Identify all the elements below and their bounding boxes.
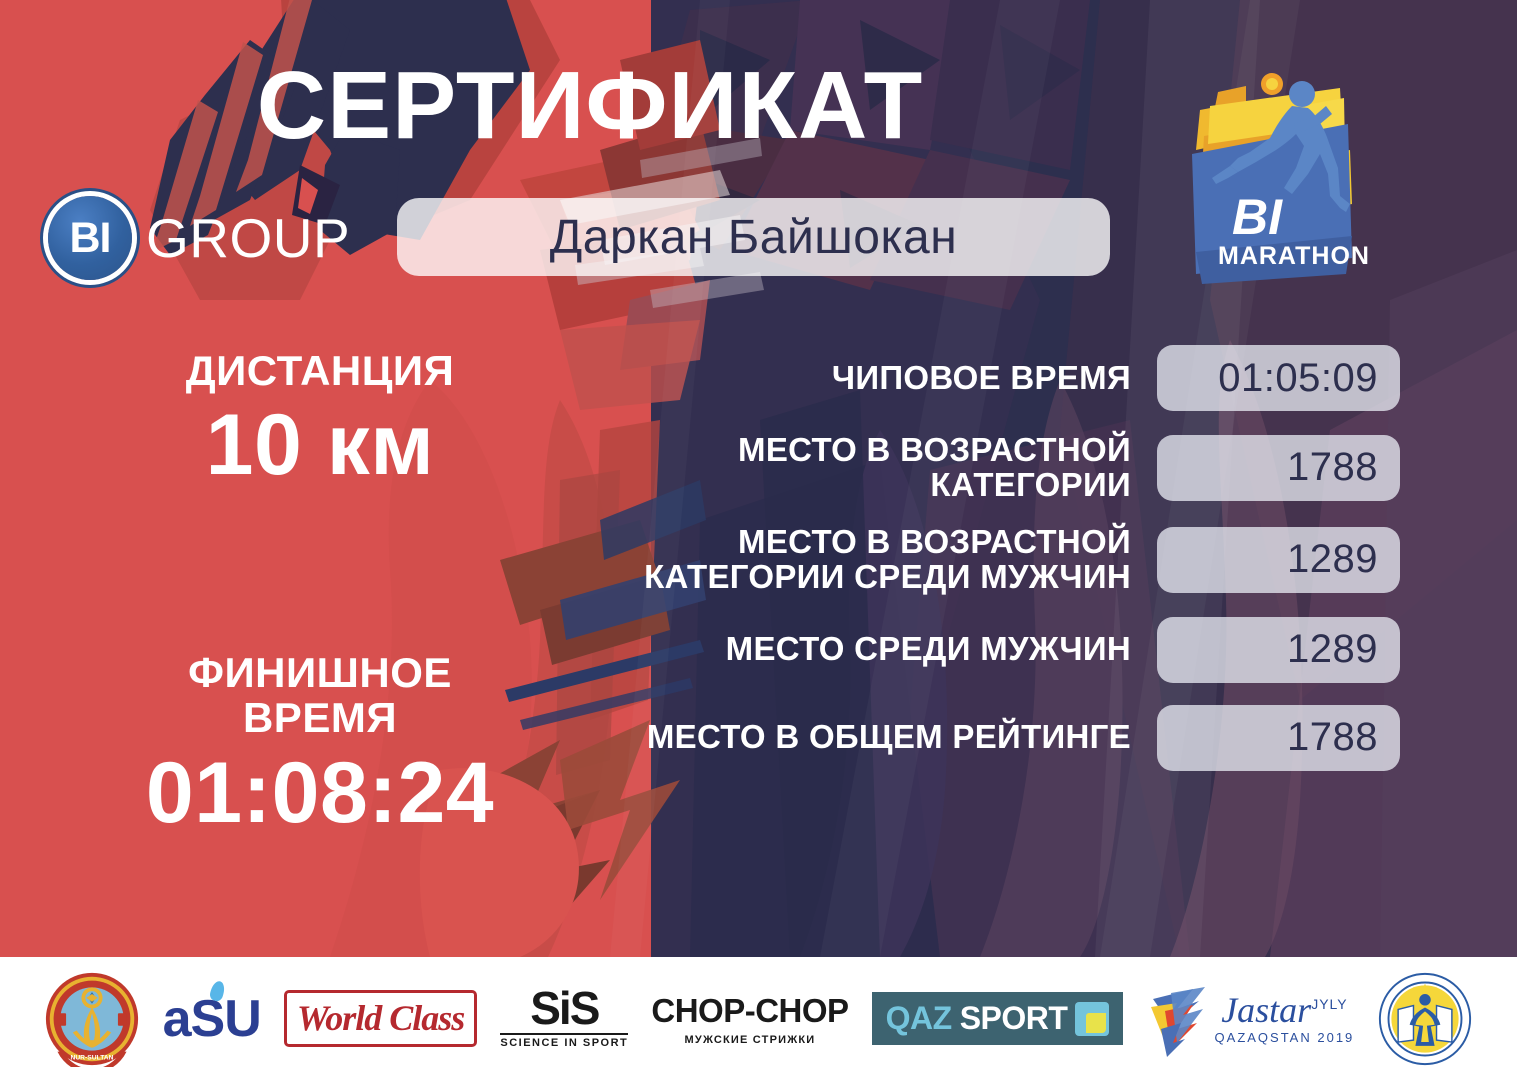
stat-value-pill: 1289 [1157,617,1400,683]
stat-value: 1788 [1287,715,1378,760]
bi-badge-icon: BI [48,196,132,280]
athlete-name-field: Даркан Байшокан [397,198,1110,276]
stat-value-pill: 01:05:09 [1157,345,1400,411]
sponsor-ministry [1377,969,1473,1069]
finish-label-line1: ФИНИШНОЕ [80,650,560,695]
sponsor-bar: NUR-SULTAN aSU World Class SiS SCIENCE I… [0,957,1517,1080]
svg-text:NUR-SULTAN: NUR-SULTAN [70,1054,113,1061]
certificate: СЕРТИФИКАТ BI GROUP Даркан Байшокан [0,0,1517,1080]
chop-chop-text: CHOP-CHOP [651,992,848,1030]
chop-chop-logo: CHOP-CHOP МУЖСКИЕ СТРИЖКИ [651,992,848,1046]
stat-value: 1788 [1287,445,1378,490]
nur-sultan-emblem-icon: NUR-SULTAN [44,971,140,1067]
sponsor-world-class: World Class [284,969,477,1069]
ministry-seal-icon [1377,971,1473,1067]
stat-row: ЧИПОВОЕ ВРЕМЯ 01:05:09 [600,345,1400,411]
jastar-word-text: Jastar [1221,990,1311,1030]
sis-subtext: SCIENCE IN SPORT [500,1033,628,1049]
stat-value: 1289 [1287,537,1378,582]
sponsor-nur-sultan: NUR-SULTAN [44,969,140,1069]
bi-group-word: GROUP [146,206,350,270]
distance-value: 10 км [80,397,560,493]
stat-value-pill: 1788 [1157,705,1400,771]
sis-logo: SiS SCIENCE IN SPORT [500,988,628,1048]
qazsport-text-2: SPORT [960,1000,1068,1037]
stats-list: ЧИПОВОЕ ВРЕМЯ 01:05:09 МЕСТО В ВОЗРАСТНО… [600,345,1400,793]
world-class-text: World Class [297,998,464,1038]
stat-label: МЕСТО В ВОЗРАСТНОЙ КАТЕГОРИИ СРЕДИ МУЖЧИ… [600,525,1157,595]
sis-text: SiS [500,988,628,1029]
jastar-sup-text: JYLY [1311,996,1347,1012]
qazsport-text-1: QAZ [886,1000,952,1037]
stat-value: 01:05:09 [1218,356,1378,401]
asu-logo: aSU [163,989,261,1049]
stat-label: ЧИПОВОЕ ВРЕМЯ [600,361,1157,396]
distance-label: ДИСТАНЦИЯ [80,348,560,393]
athlete-name: Даркан Байшокан [550,210,957,265]
jastar-logo: JastarJYLY QAZAQSTAN 2019 [1147,981,1355,1057]
stat-row: МЕСТО В ОБЩЕМ РЕЙТИНГЕ 1788 [600,705,1400,771]
stat-value: 1289 [1287,627,1378,672]
distance-block: ДИСТАНЦИЯ 10 км [80,348,560,494]
stat-row: МЕСТО СРЕДИ МУЖЧИН 1289 [600,617,1400,683]
qazsport-logo: QAZ SPORT [872,992,1124,1045]
sponsor-jastar-jyly: JastarJYLY QAZAQSTAN 2019 [1147,969,1355,1069]
jastar-bird-icon [1147,981,1209,1057]
jastar-word: JastarJYLY [1215,992,1355,1028]
world-class-logo: World Class [284,990,477,1047]
jastar-subtext: QAZAQSTAN 2019 [1215,1030,1355,1045]
sponsor-sis: SiS SCIENCE IN SPORT [500,969,628,1069]
sponsor-asu: aSU [163,969,261,1069]
stat-value-pill: 1289 [1157,527,1400,593]
marathon-word-text: MARATHON [1218,242,1370,270]
stat-row: МЕСТО В ВОЗРАСТНОЙ КАТЕГОРИИ СРЕДИ МУЖЧИ… [600,525,1400,595]
bi-marathon-logo-svg: BI MARATHON [1180,62,1380,294]
stat-value-pill: 1788 [1157,435,1400,501]
jastar-text-group: JastarJYLY QAZAQSTAN 2019 [1215,992,1355,1045]
bi-marathon-logo: BI MARATHON [1180,62,1380,294]
stat-label: МЕСТО СРЕДИ МУЖЧИН [600,632,1157,667]
bi-badge-text: BI [70,214,111,263]
marathon-bi-text: BI [1232,189,1283,245]
stat-label: МЕСТО В ВОЗРАСТНОЙ КАТЕГОРИИ [600,433,1157,503]
finish-label-line2: ВРЕМЯ [80,695,560,740]
stat-row: МЕСТО В ВОЗРАСТНОЙ КАТЕГОРИИ 1788 [600,433,1400,503]
finish-time-block: ФИНИШНОЕ ВРЕМЯ 01:08:24 [80,650,560,841]
sponsor-qazsport: QAZ SPORT [872,969,1124,1069]
page-title: СЕРТИФИКАТ [0,58,1180,154]
sponsor-chop-chop: CHOP-CHOP МУЖСКИЕ СТРИЖКИ [651,969,848,1069]
chop-chop-subtext: МУЖСКИЕ СТРИЖКИ [651,1034,848,1046]
bi-group-logo: BI GROUP [48,196,350,280]
qazsport-square-icon [1075,1002,1109,1036]
finish-time-value: 01:08:24 [80,745,560,841]
stat-label: МЕСТО В ОБЩЕМ РЕЙТИНГЕ [600,720,1157,755]
